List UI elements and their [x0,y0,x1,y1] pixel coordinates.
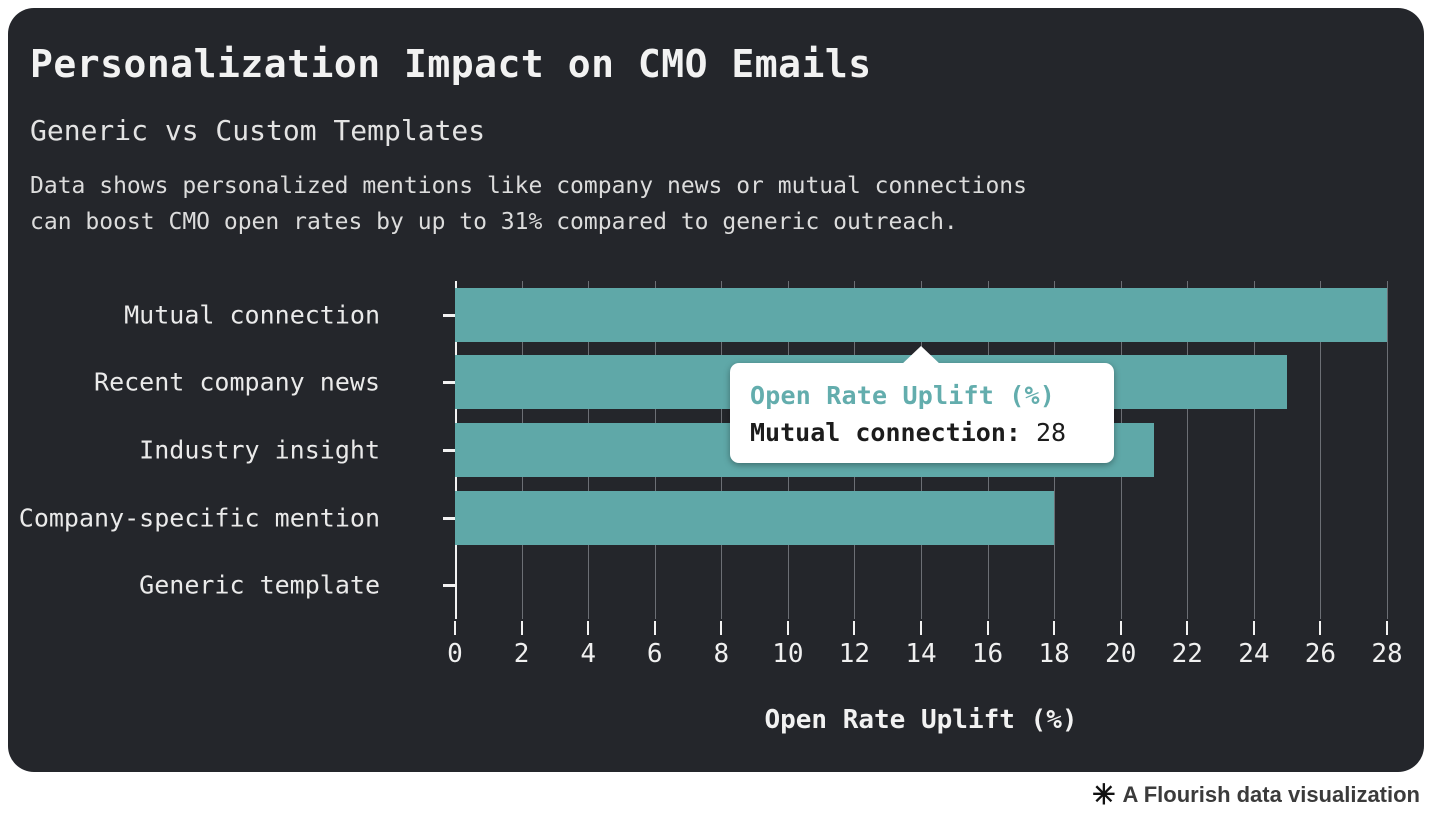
tooltip-arrow [900,346,942,366]
bar-row[interactable] [455,491,1387,545]
page-title: Personalization Impact on CMO Emails [30,42,872,86]
x-axis-tick [654,621,656,635]
x-axis-label: 18 [1038,639,1069,669]
x-axis-tick [1386,621,1388,635]
y-axis-tick [443,517,455,520]
bar[interactable] [455,491,1054,545]
y-axis-tick [443,584,455,587]
tooltip-value-row: Mutual connection: 28 [750,418,1094,447]
x-axis-tick [1053,621,1055,635]
tooltip-series-label: Open Rate Uplift (%) [750,381,1094,410]
x-axis-label: 16 [972,639,1003,669]
x-axis-label: 2 [514,639,530,669]
tooltip-category: Mutual connection: [750,418,1021,447]
x-axis-label: 28 [1371,639,1402,669]
x-axis-tick [1120,621,1122,635]
flourish-asterisk-icon: ✳ [1092,781,1115,809]
x-axis-tick [720,621,722,635]
y-axis-category-label: Recent company news [94,368,380,397]
y-axis-tick [443,449,455,452]
gridline [1387,281,1388,619]
chart-tooltip: Open Rate Uplift (%) Mutual connection: … [730,363,1114,463]
chart-subtitle: Generic vs Custom Templates [30,114,485,147]
flourish-credit[interactable]: ✳ A Flourish data visualization [1092,781,1420,809]
y-axis-tick [443,381,455,384]
x-axis-tick [787,621,789,635]
flourish-credit-label: A Flourish data visualization [1123,782,1420,808]
x-axis-label: 6 [647,639,663,669]
bar-row[interactable] [455,288,1387,342]
x-axis-label: 24 [1238,639,1269,669]
x-axis-tick [1186,621,1188,635]
x-axis-label: 8 [713,639,729,669]
x-axis-label: 22 [1172,639,1203,669]
y-axis-category-label: Company-specific mention [19,503,380,532]
y-axis-category-label: Mutual connection [124,300,380,329]
tooltip-value: 28 [1036,418,1066,447]
x-axis-label: 14 [905,639,936,669]
x-axis-label: 0 [447,639,463,669]
x-axis-tick [1253,621,1255,635]
x-axis-tick [987,621,989,635]
x-axis-label: 12 [839,639,870,669]
bar[interactable] [455,288,1387,342]
x-axis-tick [920,621,922,635]
y-axis-category-label: Industry insight [139,436,380,465]
x-axis-tick [521,621,523,635]
y-axis-tick [443,314,455,317]
x-axis-label: 10 [772,639,803,669]
x-axis-tick [587,621,589,635]
chart-description: Data shows personalized mentions like co… [30,168,1027,240]
x-axis-tick [1319,621,1321,635]
x-axis-label: 20 [1105,639,1136,669]
x-axis-title: Open Rate Uplift (%) [455,705,1387,735]
chart-card: Personalization Impact on CMO Emails Gen… [8,8,1424,772]
bar-row[interactable] [455,558,1387,612]
screenshot-root: Personalization Impact on CMO Emails Gen… [0,0,1440,821]
y-axis-category-label: Generic template [139,571,380,600]
x-axis-tick [853,621,855,635]
x-axis-label: 26 [1305,639,1336,669]
x-axis-label: 4 [580,639,596,669]
x-axis-tick [454,621,456,635]
